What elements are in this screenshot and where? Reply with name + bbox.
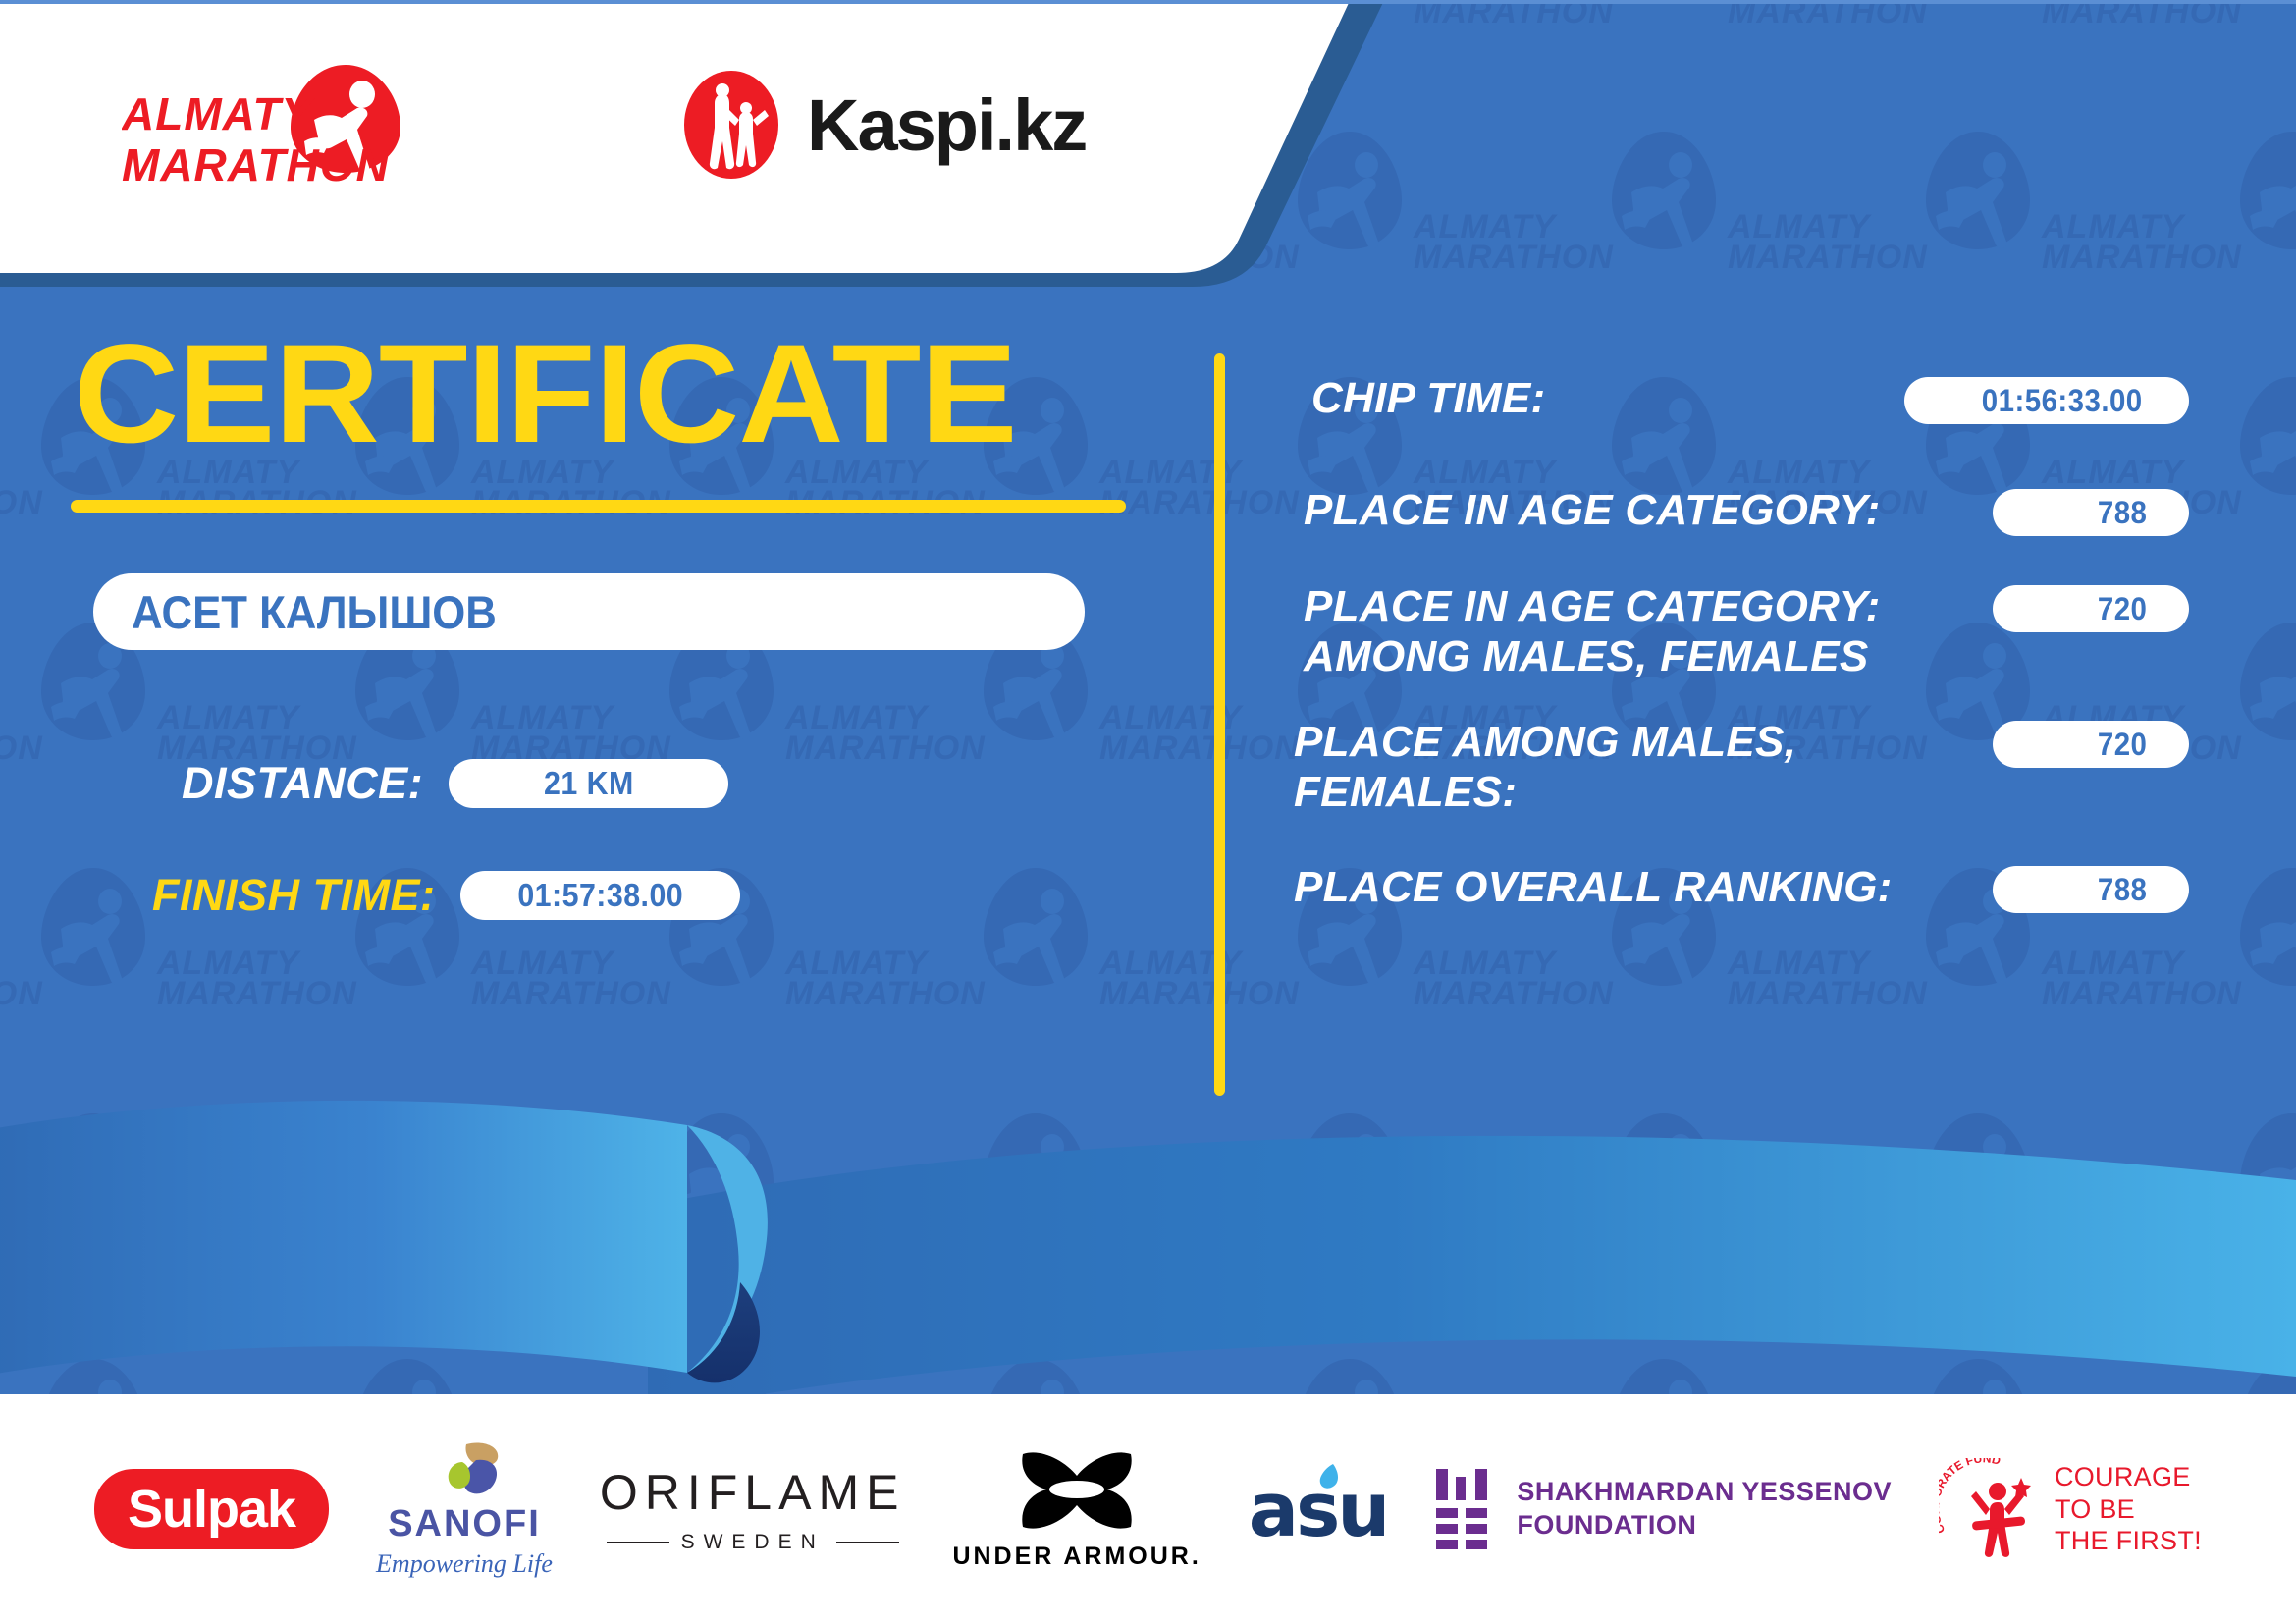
watermark-text: ALMATYMARATHON — [785, 948, 991, 1010]
chip-time-label: CHIP TIME: — [1311, 373, 1545, 423]
finish-time-value-pill: 01:57:38.00 — [460, 871, 740, 920]
finish-time-label: FINISH TIME: — [152, 870, 435, 921]
chip-time-value: 01:56:33.00 — [1982, 383, 2180, 419]
watermark-text: MARATHON — [1728, 243, 1934, 273]
finish-time-value: 01:57:38.00 — [518, 877, 684, 914]
place-age-category-label: PLACE IN AGE CATEGORY: — [1304, 485, 1881, 535]
watermark-text: MARATHON — [471, 979, 677, 1009]
ribbon-shape — [0, 1090, 2296, 1424]
stat-row-chip-time: CHIP TIME: 01:56:33.00 — [1276, 373, 2189, 424]
stat-row-place-age-category: PLACE IN AGE CATEGORY: 788 — [1276, 485, 2189, 536]
sponsor-sanofi-tagline: Empowering Life — [376, 1549, 553, 1579]
stat-row-place-among-males-females: PLACE AMONG MALES, FEMALES: 720 — [1276, 717, 2189, 817]
athlete-name-value: АСЕТ КАЛЫШОВ — [93, 585, 497, 639]
watermark-tile: ALMATYMARATHON — [1414, 128, 1728, 373]
watermark-text: MARATHON — [2042, 243, 2248, 273]
sponsor-oriflame-label: ORIFLAME — [600, 1464, 906, 1521]
left-panel: CERTIFICATE АСЕТ КАЛЫШОВ DISTANCE: 21 KM… — [0, 324, 1158, 921]
sanofi-mark-icon — [419, 1440, 509, 1501]
place-overall-label: PLACE OVERALL RANKING: — [1294, 862, 1893, 912]
watermark-text: ALMATYMARATHON — [1099, 948, 1306, 1010]
sponsor-under-armour: UNDER ARMOUR. — [952, 1448, 1201, 1571]
header-band: ALMATY MARATHON Kaspi.kz — [0, 0, 1394, 295]
certificate-root: ALMATYMARATHONALMATYMARATHONALMATYMARATH… — [0, 0, 2296, 1624]
watermark-text: ALMATYMARATHON — [1414, 212, 1620, 274]
page-title: CERTIFICATE — [0, 324, 1204, 464]
finish-time-row: FINISH TIME: 01:57:38.00 — [93, 870, 1158, 921]
place-age-category-value: 788 — [2098, 495, 2185, 531]
sponsor-yessenov-line1: SHAKHMARDAN YESSENOV — [1517, 1476, 1892, 1509]
event-ribbon: APRIL21st RUN FOR SENSATIONS — [0, 1090, 2296, 1424]
distance-value-pill: 21 KM — [449, 759, 728, 808]
almaty-logo-text-line2: MARATHON — [122, 139, 390, 190]
sponsor-courage-line3: THE FIRST! — [2055, 1525, 2202, 1557]
distance-label: DISTANCE: — [182, 758, 423, 809]
watermark-text: ALMATYMARATHON — [471, 948, 677, 1010]
sponsor-sulpak: Sulpak — [94, 1469, 329, 1549]
watermark-text: MARATHON — [157, 979, 363, 1009]
place-among-males-females-label: PLACE AMONG MALES, FEMALES: — [1294, 717, 1981, 817]
sponsor-under-armour-label: UNDER ARMOUR. — [952, 1543, 1201, 1571]
sponsor-courage-to-be-the-first: CORPORATE FUND COURAGE TO BE THE FIRST! — [1939, 1458, 2202, 1560]
watermark-text: MARATHON — [785, 979, 991, 1009]
sponsor-yessenov-foundation: SHAKHMARDAN YESSENOV FOUNDATION — [1434, 1467, 1892, 1551]
sponsor-asu: asu — [1249, 1466, 1388, 1553]
stats-panel: CHIP TIME: 01:56:33.00 PLACE IN AGE CATE… — [1276, 373, 2189, 958]
watermark-text: ALMATYMARATHON — [2042, 0, 2248, 28]
place-overall-value: 788 — [2098, 872, 2185, 908]
watermark-runner-icon — [2234, 373, 2296, 499]
chip-time-value-pill: 01:56:33.00 — [1904, 377, 2189, 424]
title-underline — [71, 500, 1126, 513]
asu-droplet-icon — [1313, 1462, 1343, 1495]
watermark-tile: ALMATYMARATHON — [2042, 128, 2296, 373]
watermark-text: MARATHON — [1414, 979, 1620, 1009]
courage-fund-mark-icon: CORPORATE FUND — [1939, 1458, 2041, 1560]
watermark-runner-icon — [1606, 128, 1722, 253]
watermark-text: MARATHON — [1728, 979, 1934, 1009]
distance-row: DISTANCE: 21 KM — [93, 758, 1158, 809]
almaty-logo-text-line1: ALMATY — [122, 88, 316, 139]
watermark-text: ALMATYMARATHON — [1728, 0, 1934, 28]
place-age-category-among-label: PLACE IN AGE CATEGORY: AMONG MALES, FEMA… — [1304, 581, 1991, 681]
under-armour-mark-icon — [1007, 1448, 1147, 1535]
sponsor-oriflame-sub: SWEDEN — [681, 1531, 825, 1554]
watermark-runner-icon — [2234, 864, 2296, 990]
distance-value: 21 KM — [544, 765, 634, 802]
athlete-name-field: АСЕТ КАЛЫШОВ — [93, 573, 1085, 650]
watermark-text: MARATHON — [1099, 979, 1306, 1009]
place-age-category-among-value-pill: 720 — [1993, 585, 2189, 632]
watermark-text: MARATHON — [2042, 979, 2248, 1009]
top-edge-rule — [0, 0, 2296, 4]
oriflame-rule-right — [836, 1542, 899, 1543]
place-among-males-females-value: 720 — [2098, 727, 2185, 763]
oriflame-rule-left — [607, 1542, 669, 1543]
vertical-divider — [1214, 353, 1225, 1096]
watermark-tile: ALMATYMARATHON — [1728, 128, 2042, 373]
watermark-text: ALMATYMARATHON — [1414, 0, 1620, 28]
watermark-text: ALMATYMARATHON — [157, 948, 363, 1010]
place-among-males-females-value-pill: 720 — [1993, 721, 2189, 768]
watermark-tile: ALMATYMARATHON — [1414, 0, 1728, 128]
place-age-category-among-value: 720 — [2098, 591, 2185, 627]
sponsor-courage-line1: COURAGE — [2055, 1461, 2202, 1493]
watermark-text: MARATHON — [2042, 0, 2248, 28]
sponsor-sulpak-label: Sulpak — [128, 1479, 295, 1540]
place-age-category-value-pill: 788 — [1993, 489, 2189, 536]
watermark-text: ALMATYMARATHON — [1728, 212, 1934, 274]
place-overall-value-pill: 788 — [1993, 866, 2189, 913]
watermark-runner-icon — [1920, 128, 2036, 253]
watermark-text: MARATHON — [1414, 0, 1620, 28]
almaty-marathon-logo: ALMATY MARATHON — [122, 57, 436, 199]
watermark-text: MARATHON — [1414, 243, 1620, 273]
yessenov-mark-icon — [1434, 1467, 1495, 1551]
watermark-runner-icon — [2234, 619, 2296, 744]
sponsor-yessenov-line2: FOUNDATION — [1517, 1509, 1892, 1543]
sponsor-oriflame: ORIFLAME SWEDEN — [600, 1464, 906, 1554]
watermark-text: ALMATYMARATHON — [2042, 212, 2248, 274]
sponsor-sanofi-label: SANOFI — [388, 1503, 541, 1545]
kaspi-wordmark: Kaspi.kz — [807, 83, 1086, 167]
watermark-runner-icon — [2234, 128, 2296, 253]
watermark-tile: ALMATYMARATHON — [1728, 0, 2042, 128]
stat-row-place-overall: PLACE OVERALL RANKING: 788 — [1276, 862, 2189, 913]
sponsor-bar: Sulpak SANOFI Empowering Life ORIFLAME S… — [0, 1394, 2296, 1624]
stat-row-place-age-category-among: PLACE IN AGE CATEGORY: AMONG MALES, FEMA… — [1276, 581, 2189, 681]
watermark-tile: ALMATYMARATHON — [2042, 0, 2296, 128]
watermark-text: MARATHON — [1728, 0, 1934, 28]
sponsor-courage-line2: TO BE — [2055, 1493, 2202, 1526]
kaspi-mark-icon — [677, 69, 785, 182]
sponsor-sanofi: SANOFI Empowering Life — [376, 1440, 553, 1579]
kaspi-logo: Kaspi.kz — [677, 69, 1086, 182]
